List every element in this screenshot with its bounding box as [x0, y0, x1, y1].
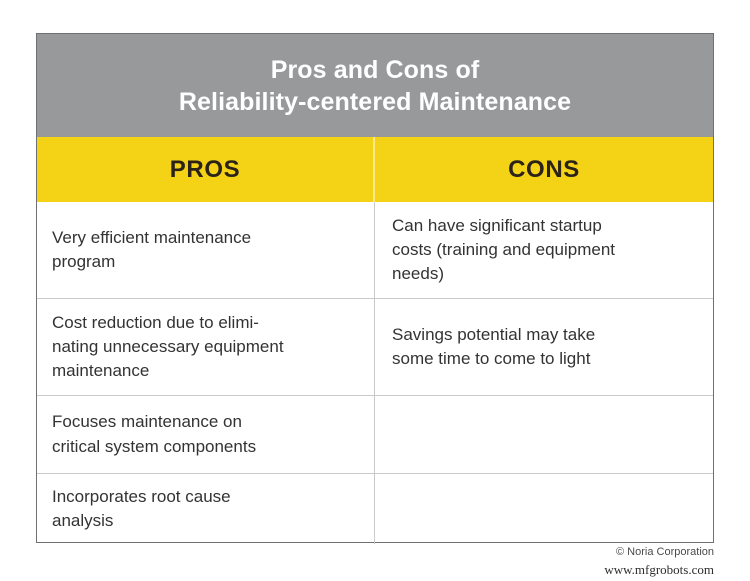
cell-cons: Can have significant startup costs (trai… [375, 202, 713, 298]
cell-pros: Very efficient maintenance program [37, 202, 375, 298]
cell-text: Can have significant startup costs (trai… [392, 214, 615, 286]
pros-cons-table: Pros and Cons of Reliability-centered Ma… [36, 33, 714, 543]
cell-pros: Cost reduction due to elimi- nating unne… [37, 299, 375, 395]
page-title: Pros and Cons of Reliability-centered Ma… [165, 54, 585, 118]
table-header-row: PROS CONS [37, 137, 713, 202]
column-header-pros-label: PROS [170, 156, 240, 184]
table-row: Very efficient maintenance program Can h… [37, 202, 713, 298]
cell-cons: Savings potential may take some time to … [375, 299, 713, 395]
column-header-cons-label: CONS [508, 156, 580, 184]
table-title-bar: Pros and Cons of Reliability-centered Ma… [37, 34, 713, 137]
cell-pros: Focuses maintenance on critical system c… [37, 396, 375, 473]
table-body: Very efficient maintenance program Can h… [37, 202, 713, 544]
cell-pros: Incorporates root cause analysis [37, 474, 375, 544]
table-row: Cost reduction due to elimi- nating unne… [37, 298, 713, 395]
column-header-cons: CONS [375, 137, 713, 202]
column-header-pros: PROS [37, 137, 375, 202]
cell-text: Very efficient maintenance program [52, 226, 251, 274]
infographic-page: Pros and Cons of Reliability-centered Ma… [0, 0, 750, 581]
cell-text: Cost reduction due to elimi- nating unne… [52, 311, 284, 383]
cell-text: Incorporates root cause analysis [52, 485, 231, 533]
website-url: www.mfgrobots.com [414, 561, 714, 579]
table-row: Incorporates root cause analysis [37, 473, 713, 544]
footer: © Noria Corporation www.mfgrobots.com [414, 545, 714, 578]
cell-text: Focuses maintenance on critical system c… [52, 410, 256, 458]
cell-text: Savings potential may take some time to … [392, 323, 595, 371]
copyright-text: © Noria Corporation [414, 545, 714, 561]
cell-cons [375, 474, 713, 544]
cell-cons [375, 396, 713, 473]
table-row: Focuses maintenance on critical system c… [37, 395, 713, 473]
